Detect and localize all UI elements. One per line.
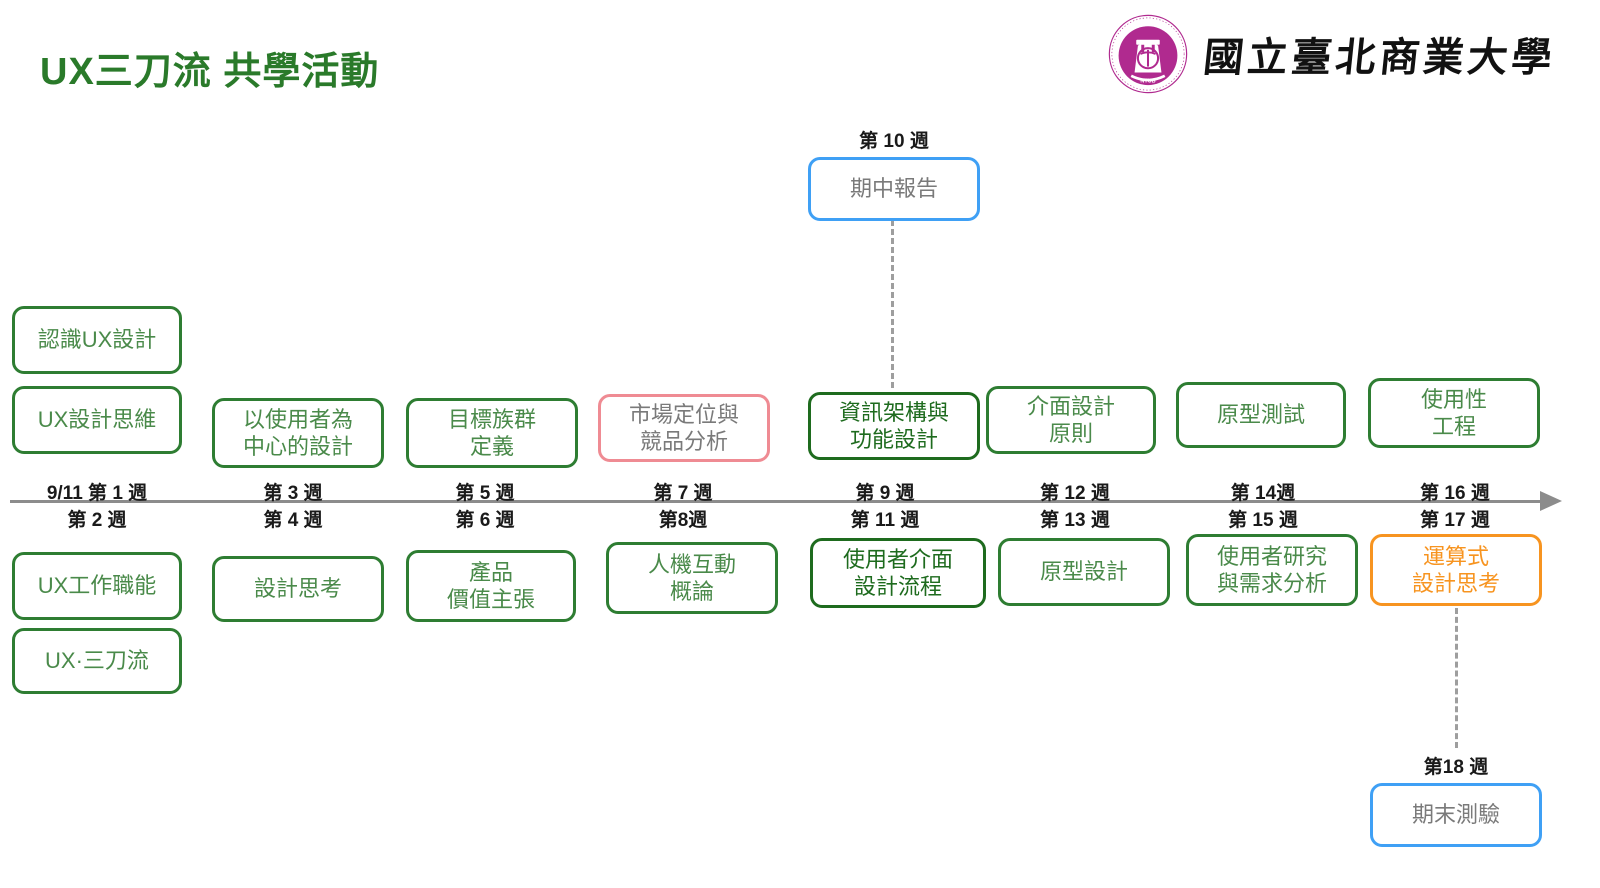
- week-label-above: 第 9 週: [800, 478, 970, 505]
- week-label-above: 9/11 第 1 週: [12, 478, 182, 505]
- final-exam-week-label: 第18 週: [1370, 752, 1542, 779]
- course-box[interactable]: 原型設計: [998, 538, 1170, 606]
- course-box[interactable]: 設計思考: [212, 556, 384, 622]
- course-box[interactable]: 認識UX設計: [12, 306, 182, 374]
- course-box[interactable]: UX工作職能: [12, 552, 182, 620]
- midterm-connector: [891, 220, 894, 388]
- page-title: UX三刀流 共學活動: [40, 40, 379, 95]
- final-exam-connector: [1455, 608, 1458, 748]
- university-logo: NTUB 國立臺北商業大學: [1106, 12, 1556, 96]
- course-box[interactable]: 使用者研究 與需求分析: [1186, 534, 1358, 606]
- course-box[interactable]: UX設計思維: [12, 386, 182, 454]
- course-box[interactable]: 使用者介面 設計流程: [810, 538, 986, 608]
- midterm-week-label: 第 10 週: [808, 126, 980, 153]
- timeline-arrow-icon: [1540, 491, 1562, 511]
- week-label-below: 第 2 週: [12, 505, 182, 532]
- course-box[interactable]: 目標族群 定義: [406, 398, 578, 468]
- week-label-below: 第 13 週: [990, 505, 1160, 532]
- course-box[interactable]: 市場定位與 競品分析: [598, 394, 770, 462]
- week-label-above: 第 5 週: [400, 478, 570, 505]
- week-label-below: 第8週: [598, 505, 768, 532]
- university-wordmark: 國立臺北商業大學: [1201, 25, 1559, 83]
- timeline-slide: UX三刀流 共學活動 NTUB 國立臺北商業大學 9/11 第 1 週第 3 週…: [0, 0, 1600, 888]
- course-box[interactable]: 介面設計 原則: [986, 386, 1156, 454]
- final-exam-box[interactable]: 期末測驗: [1370, 783, 1542, 847]
- course-box[interactable]: 產品 價值主張: [406, 550, 576, 622]
- course-box[interactable]: 原型測試: [1176, 382, 1346, 448]
- week-label-below: 第 11 週: [800, 505, 970, 532]
- week-label-above: 第 16 週: [1370, 478, 1540, 505]
- midterm-box[interactable]: 期中報告: [808, 157, 980, 221]
- ntub-logo-icon: NTUB: [1106, 12, 1190, 96]
- week-label-below: 第 15 週: [1178, 505, 1348, 532]
- course-box[interactable]: 資訊架構與 功能設計: [808, 392, 980, 460]
- week-label-above: 第 7 週: [598, 478, 768, 505]
- course-box[interactable]: 運算式 設計思考: [1370, 534, 1542, 606]
- svg-text:NTUB: NTUB: [1140, 79, 1155, 85]
- week-label-below: 第 6 週: [400, 505, 570, 532]
- course-box[interactable]: 人機互動 概論: [606, 542, 778, 614]
- course-box[interactable]: 以使用者為 中心的設計: [212, 398, 384, 468]
- week-label-above: 第 14週: [1178, 478, 1348, 505]
- course-box[interactable]: 使用性 工程: [1368, 378, 1540, 448]
- week-label-below: 第 17 週: [1370, 505, 1540, 532]
- week-label-below: 第 4 週: [208, 505, 378, 532]
- week-label-above: 第 3 週: [208, 478, 378, 505]
- week-label-above: 第 12 週: [990, 478, 1160, 505]
- course-box[interactable]: UX·三刀流: [12, 628, 182, 694]
